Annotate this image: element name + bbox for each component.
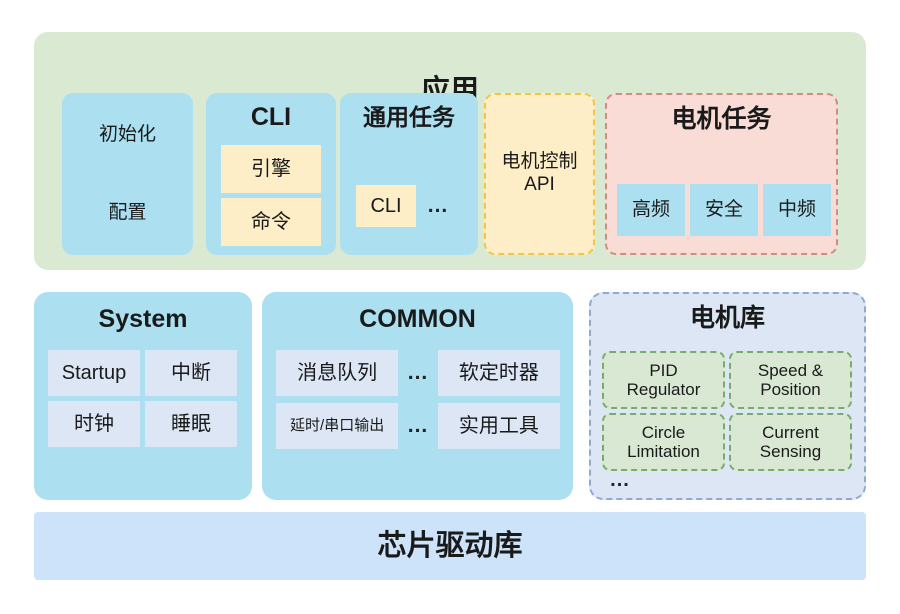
motor-library-ellipsis: ...	[605, 469, 635, 492]
common-card-row: 延时/串口输出 ... 实用工具	[276, 403, 560, 449]
motor-lib-pid-regulator-line1: PID	[627, 361, 701, 380]
cli-card-title: CLI	[251, 104, 291, 130]
motor-lib-current-sensing-chip[interactable]: Current Sensing	[729, 413, 852, 471]
motor-lib-circle-limitation-line1: Circle	[627, 423, 700, 442]
common-task-ellipsis: ...	[421, 194, 455, 218]
motor-library-card[interactable]: 电机库 PID Regulator Speed & Position Circl…	[589, 292, 866, 500]
system-card-title: System	[99, 306, 188, 332]
motor-task-high-freq-chip[interactable]: 高频	[617, 184, 685, 236]
motor-lib-current-sensing-line2: Sensing	[760, 442, 821, 461]
motor-control-api-card[interactable]: 电机控制 API	[484, 93, 595, 255]
motor-lib-speed-position-line2: Position	[758, 380, 823, 399]
common-card-items: 消息队列 ... 软定时器 延时/串口输出 ... 实用工具	[276, 350, 560, 456]
common-soft-timer-chip[interactable]: 软定时器	[438, 350, 560, 396]
common-card-title: COMMON	[359, 306, 476, 332]
motor-task-safety-chip[interactable]: 安全	[690, 184, 758, 236]
motor-control-api-label: 电机控制 API	[501, 151, 577, 197]
system-card-items: Startup 中断 时钟 睡眠	[48, 350, 238, 447]
motor-lib-current-sensing-line1: Current	[760, 423, 821, 442]
motor-lib-pid-regulator-line2: Regulator	[627, 380, 701, 399]
chip-driver-library-bar[interactable]: 芯片驱动库	[34, 512, 866, 580]
system-startup-chip[interactable]: Startup	[48, 350, 140, 396]
motor-library-items: PID Regulator Speed & Position Circle Li…	[602, 351, 853, 471]
motor-task-card[interactable]: 电机任务 高频 安全 中频	[605, 93, 838, 255]
cli-engine-chip[interactable]: 引擎	[221, 145, 321, 193]
init-chip[interactable]: 初始化	[71, 99, 184, 171]
architecture-diagram: 应用 初始化 配置 CLI 引擎 命令 通用任务 CLI ... 电机控制 AP…	[0, 0, 900, 614]
motor-task-items: 高频 安全 中频	[617, 184, 831, 236]
motor-library-card-title: 电机库	[690, 305, 765, 331]
cli-card[interactable]: CLI 引擎 命令	[206, 93, 336, 255]
common-utilities-chip[interactable]: 实用工具	[438, 403, 560, 449]
common-task-card-title: 通用任务	[363, 105, 455, 129]
common-delay-serial-output-chip[interactable]: 延时/串口输出	[276, 403, 398, 449]
common-message-queue-chip[interactable]: 消息队列	[276, 350, 398, 396]
system-interrupt-chip[interactable]: 中断	[145, 350, 237, 396]
motor-lib-circle-limitation-chip[interactable]: Circle Limitation	[602, 413, 725, 471]
motor-lib-pid-regulator-chip[interactable]: PID Regulator	[602, 351, 725, 409]
common-card-row: 消息队列 ... 软定时器	[276, 350, 560, 396]
common-task-card[interactable]: 通用任务 CLI ...	[340, 93, 478, 255]
config-chip[interactable]: 配置	[71, 177, 184, 249]
init-config-card[interactable]: 初始化 配置	[62, 93, 193, 255]
common-task-cli-chip[interactable]: CLI	[356, 185, 416, 227]
motor-task-mid-freq-chip[interactable]: 中频	[763, 184, 831, 236]
motor-task-card-title: 电机任务	[671, 106, 771, 132]
chip-driver-library-title: 芯片驱动库	[377, 531, 522, 561]
motor-control-api-label-line2: API	[501, 174, 577, 197]
system-card[interactable]: System Startup 中断 时钟 睡眠	[34, 292, 252, 500]
common-row1-ellipsis: ...	[402, 361, 434, 385]
motor-lib-speed-position-chip[interactable]: Speed & Position	[729, 351, 852, 409]
system-clock-chip[interactable]: 时钟	[48, 401, 140, 447]
common-row2-ellipsis: ...	[402, 414, 434, 438]
common-task-items: CLI ...	[356, 185, 455, 227]
motor-lib-speed-position-line1: Speed &	[758, 361, 823, 380]
motor-control-api-label-line1: 电机控制	[501, 151, 577, 174]
common-card[interactable]: COMMON 消息队列 ... 软定时器 延时/串口输出 ... 实用工具	[262, 292, 573, 500]
cli-command-chip[interactable]: 命令	[221, 198, 321, 246]
system-sleep-chip[interactable]: 睡眠	[145, 401, 237, 447]
motor-lib-circle-limitation-line2: Limitation	[627, 442, 700, 461]
cli-card-items: 引擎 命令	[221, 145, 321, 251]
